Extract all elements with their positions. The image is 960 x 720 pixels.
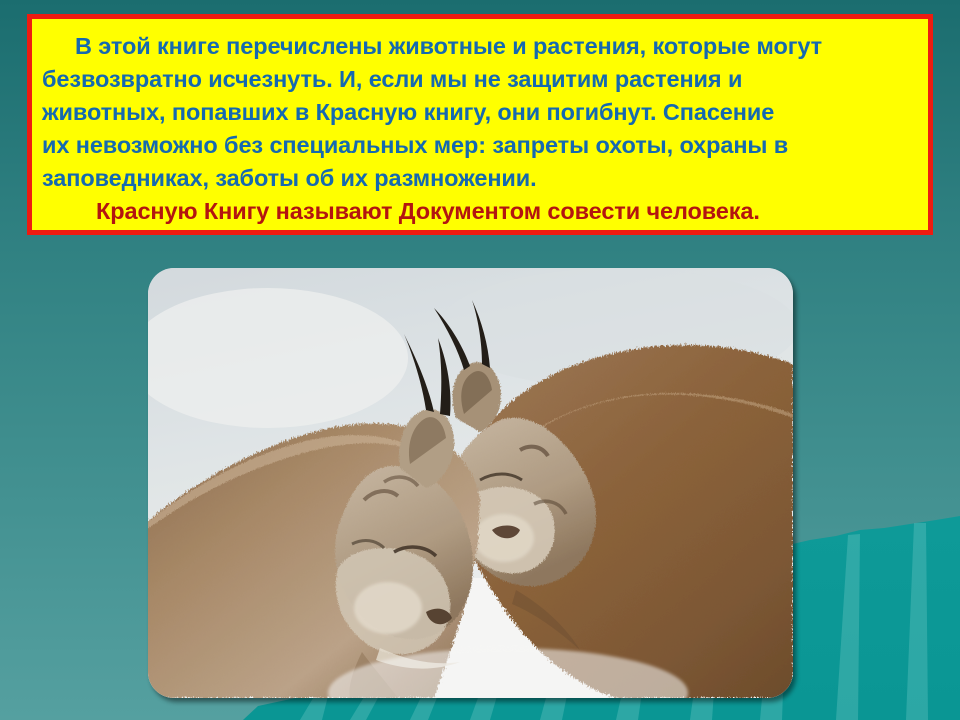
text-line-1: В этой книге перечислены животные и раст…	[42, 30, 918, 63]
lynx-photo	[148, 268, 793, 698]
text-line-3: животных, попавших в Красную книгу, они …	[42, 96, 918, 129]
text-line-2: безвозвратно исчезнуть. И, если мы не за…	[42, 63, 918, 96]
text-line-4: их невозможно без специальных мер: запре…	[42, 129, 918, 162]
presentation-slide: В этой книге перечислены животные и раст…	[0, 0, 960, 720]
text-panel: В этой книге перечислены животные и раст…	[27, 14, 933, 235]
text-line-5: заповедниках, заботы об их размножении.	[42, 162, 918, 195]
text-line-6-highlight: Красную Книгу называют Документом совест…	[42, 195, 918, 228]
